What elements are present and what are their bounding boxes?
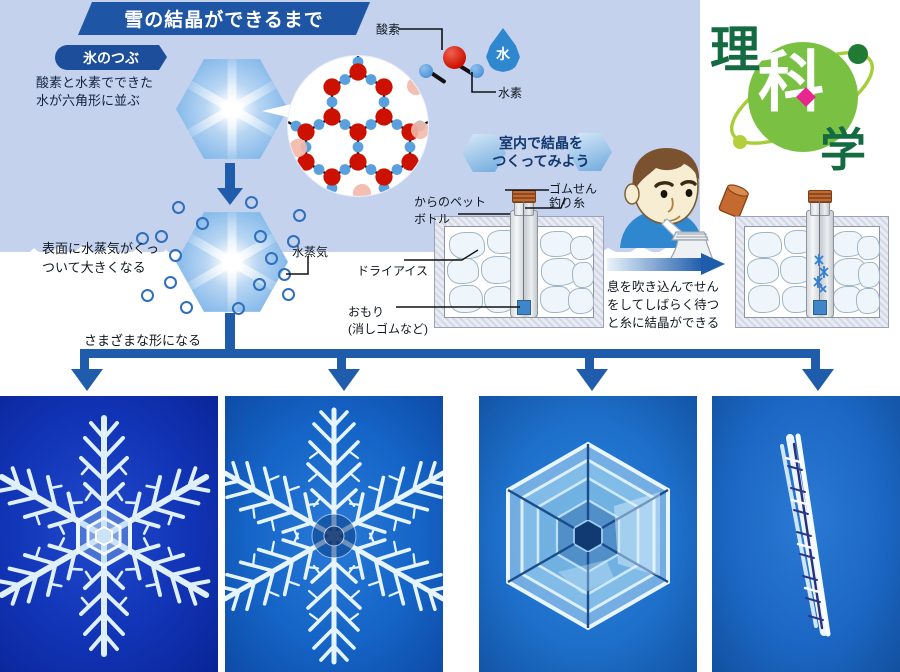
dry-ice-chunk <box>857 236 880 260</box>
experiment-banner-text: 室内で結晶を つくってみよう <box>476 134 606 170</box>
hydrogen-leader-line <box>468 72 498 100</box>
vapor-label: 水蒸気 <box>292 243 328 260</box>
experiment-banner-line1: 室内で結晶を <box>476 134 606 152</box>
branch-arrow-head-2 <box>328 369 360 391</box>
instruction-line1: 息を吹き込んでせん <box>607 278 733 296</box>
instruction-line3: と糸に結晶ができる <box>607 314 733 332</box>
needle-column-crystal <box>712 396 900 672</box>
dry-ice-chunk <box>748 232 782 258</box>
snowflake-photo-4 <box>712 396 900 672</box>
hexagon-starburst-ray <box>228 51 237 167</box>
page-title-text: 雪の結晶ができるまで <box>124 5 324 32</box>
section-banner-ice-grain-label: 氷のつぶ <box>83 48 139 68</box>
grown-crystals-on-thread <box>806 250 836 298</box>
snowflake-photo-1 <box>0 396 218 672</box>
dry-ice-chunk <box>856 288 880 314</box>
vapor-dot <box>265 252 278 265</box>
section-banner-ice-grain: 氷のつぶ <box>55 45 167 70</box>
hexagon-core-glow <box>219 249 245 275</box>
weight-leader-line <box>396 302 522 312</box>
dry-ice-chunk <box>748 285 780 313</box>
process-arrow-body <box>607 258 703 271</box>
dry-ice-chunk <box>540 231 574 257</box>
dry-ice-chunk <box>568 288 594 314</box>
oxygen-leader-line <box>396 20 466 54</box>
dry-ice-chunk <box>858 262 880 288</box>
bottle-leader-line <box>458 211 512 217</box>
dry-ice-chunk <box>570 236 594 260</box>
cork-leader-line <box>505 184 553 196</box>
process-arrow <box>607 253 725 275</box>
branch-stem-4 <box>811 349 820 371</box>
stellar-dendrite-2 <box>225 396 443 672</box>
branch-arrow-head-4 <box>802 369 834 391</box>
page-title: 雪の結晶ができるまで <box>78 2 370 35</box>
flow-arrow-1-head <box>217 188 243 205</box>
logo-char-ka: 科 <box>758 50 824 116</box>
logo-char-gaku: 学 <box>820 114 866 180</box>
dry-ice-chunk <box>747 258 779 284</box>
growth-caption-line2: ついて大きくなる <box>42 259 202 278</box>
branch-stem-2 <box>337 349 346 371</box>
thread-label: 釣り糸 <box>549 194 585 211</box>
process-arrow-head <box>701 253 725 275</box>
vapor-dot <box>282 288 295 301</box>
vapor-dot <box>141 289 154 302</box>
stellar-dendrite-1 <box>0 396 218 672</box>
experiment-banner-line2: つくってみよう <box>476 152 606 170</box>
experiment-banner: 室内で結晶を つくってみよう <box>462 133 612 173</box>
snowflake-photo-2 <box>225 396 443 672</box>
branch-stem-1 <box>80 349 89 371</box>
oxygen-label: 酸素 <box>376 21 400 38</box>
branch-arrow-head-1 <box>71 369 103 391</box>
rikagaku-logo: 理 科 学 <box>700 2 896 188</box>
flow-arrow-1-stem <box>225 163 235 191</box>
growth-caption: 表面に水蒸気がくっ ついて大きくなる <box>42 240 202 278</box>
vapor-dot <box>245 196 258 209</box>
instruction-line2: をしてしばらく待つ <box>607 296 733 314</box>
vapor-dot <box>293 209 306 222</box>
branch-arrow-head-3 <box>576 369 608 391</box>
branch-stem-3 <box>585 349 594 371</box>
hexagon-core-glow <box>219 96 245 122</box>
vapor-dot <box>253 278 266 291</box>
hexagonal-plate-crystal <box>479 396 697 672</box>
fishing-thread <box>523 201 524 309</box>
vapor-dot <box>172 201 185 214</box>
weight-eraser <box>813 300 827 315</box>
infographic-root: 雪の結晶ができるまで 氷のつぶ 酸素と水素でできた 水が六角形に並ぶ <box>0 0 900 672</box>
vapor-dot <box>180 301 193 314</box>
weight-label-line2: (消しゴムなど) <box>348 321 438 338</box>
dry-ice-chunk <box>572 262 594 288</box>
vapor-dot <box>254 230 267 243</box>
rubber-cork <box>808 190 832 203</box>
distributor-stem <box>225 313 235 353</box>
snowflake-photo-3 <box>479 396 697 672</box>
growth-caption-line1: 表面に水蒸気がくっ <box>42 240 202 259</box>
distributor-bar <box>80 349 820 358</box>
vapor-dot <box>196 217 209 230</box>
water-droplet-label: 水 <box>496 44 510 64</box>
dry-ice-leader-line <box>404 248 480 262</box>
branch-caption: さまざまな形になる <box>84 330 201 349</box>
hydrogen-label: 水素 <box>498 84 522 101</box>
logo-char-ri: 理 <box>710 10 760 82</box>
vapor-dot <box>164 276 177 289</box>
pet-bottle-label-line1: からのペット <box>414 194 500 211</box>
experiment-instruction: 息を吹き込んでせん をしてしばらく待つ と糸に結晶ができる <box>607 278 733 332</box>
hydrogen-atom-left <box>419 64 433 78</box>
dry-ice-label: ドライアイス <box>357 262 428 279</box>
